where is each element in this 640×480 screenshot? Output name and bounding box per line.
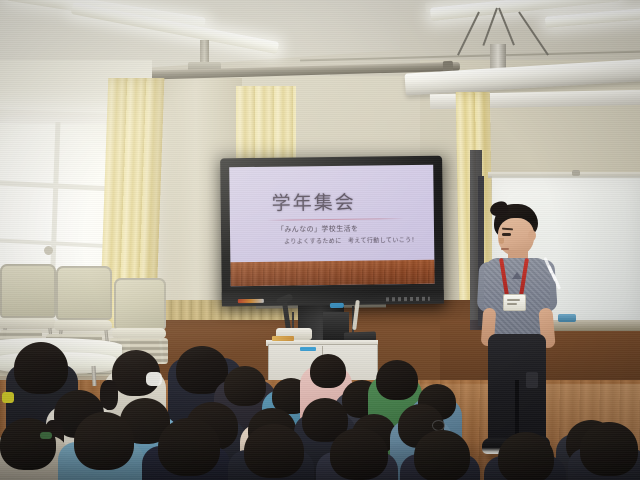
- slide-subtitle-line-1: 「みんなの」学校生活を: [277, 224, 359, 235]
- display-button-row[interactable]: [386, 297, 430, 302]
- slide-divider-rule: [267, 218, 404, 221]
- display-brand-logo: [238, 299, 264, 303]
- rig-bracket: [490, 44, 506, 70]
- list-item-student-head: [580, 422, 638, 476]
- list-item-student-head: [74, 412, 134, 470]
- badge-line: [507, 299, 520, 301]
- display-power-led: [330, 303, 344, 308]
- list-item-student-head: [224, 366, 266, 406]
- list-item-student-head: [376, 360, 418, 400]
- hair-tie: [40, 432, 52, 439]
- projection-screen-rig: [460, 8, 640, 100]
- presentation-slide: 学年集会 「みんなの」学校生活を よりよくするために 考えて行動していこう！: [229, 165, 434, 286]
- rig-wire: [498, 8, 515, 46]
- presenter-nose: [499, 238, 504, 244]
- shoulder-patch: [2, 392, 14, 403]
- monitor-icon-flat-panel-display[interactable]: 学年集会 「みんなの」学校生活を よりよくするために 考えて行動していこう！: [220, 156, 444, 307]
- presenter-ear: [528, 230, 536, 241]
- face-mask: [146, 372, 162, 386]
- slide-subtitle-line-2: よりよくするために 考えて行動していこう！: [284, 235, 418, 246]
- slide-title: 学年集会: [271, 188, 355, 216]
- rig-wire: [482, 8, 498, 46]
- list-item-student-head: [158, 418, 220, 476]
- student-audience: [0, 336, 640, 480]
- photograph-classroom-assembly: 学年集会 「みんなの」学校生活を よりよくするために 考えて行動していこう！: [0, 0, 640, 480]
- list-item-student-head: [330, 428, 388, 480]
- list-item-student-head: [14, 342, 68, 394]
- id-badge: [503, 294, 526, 311]
- list-item-student-head: [244, 424, 304, 478]
- window-latch: [44, 246, 53, 255]
- list-item-student-head: [498, 432, 554, 480]
- chair-backrest: [0, 264, 56, 318]
- list-item-student-head: [0, 418, 56, 470]
- slide-footer-image: [230, 260, 434, 286]
- rig-wire: [457, 12, 480, 56]
- presenter-eye: [502, 233, 511, 236]
- badge-line: [507, 303, 517, 305]
- chair-seat: [54, 320, 112, 331]
- chair-backrest: [114, 278, 166, 330]
- list-item-student-head: [414, 430, 470, 480]
- rig-wire: [518, 11, 549, 55]
- list-item-student-head: [310, 354, 346, 388]
- chair-backrest: [56, 266, 112, 320]
